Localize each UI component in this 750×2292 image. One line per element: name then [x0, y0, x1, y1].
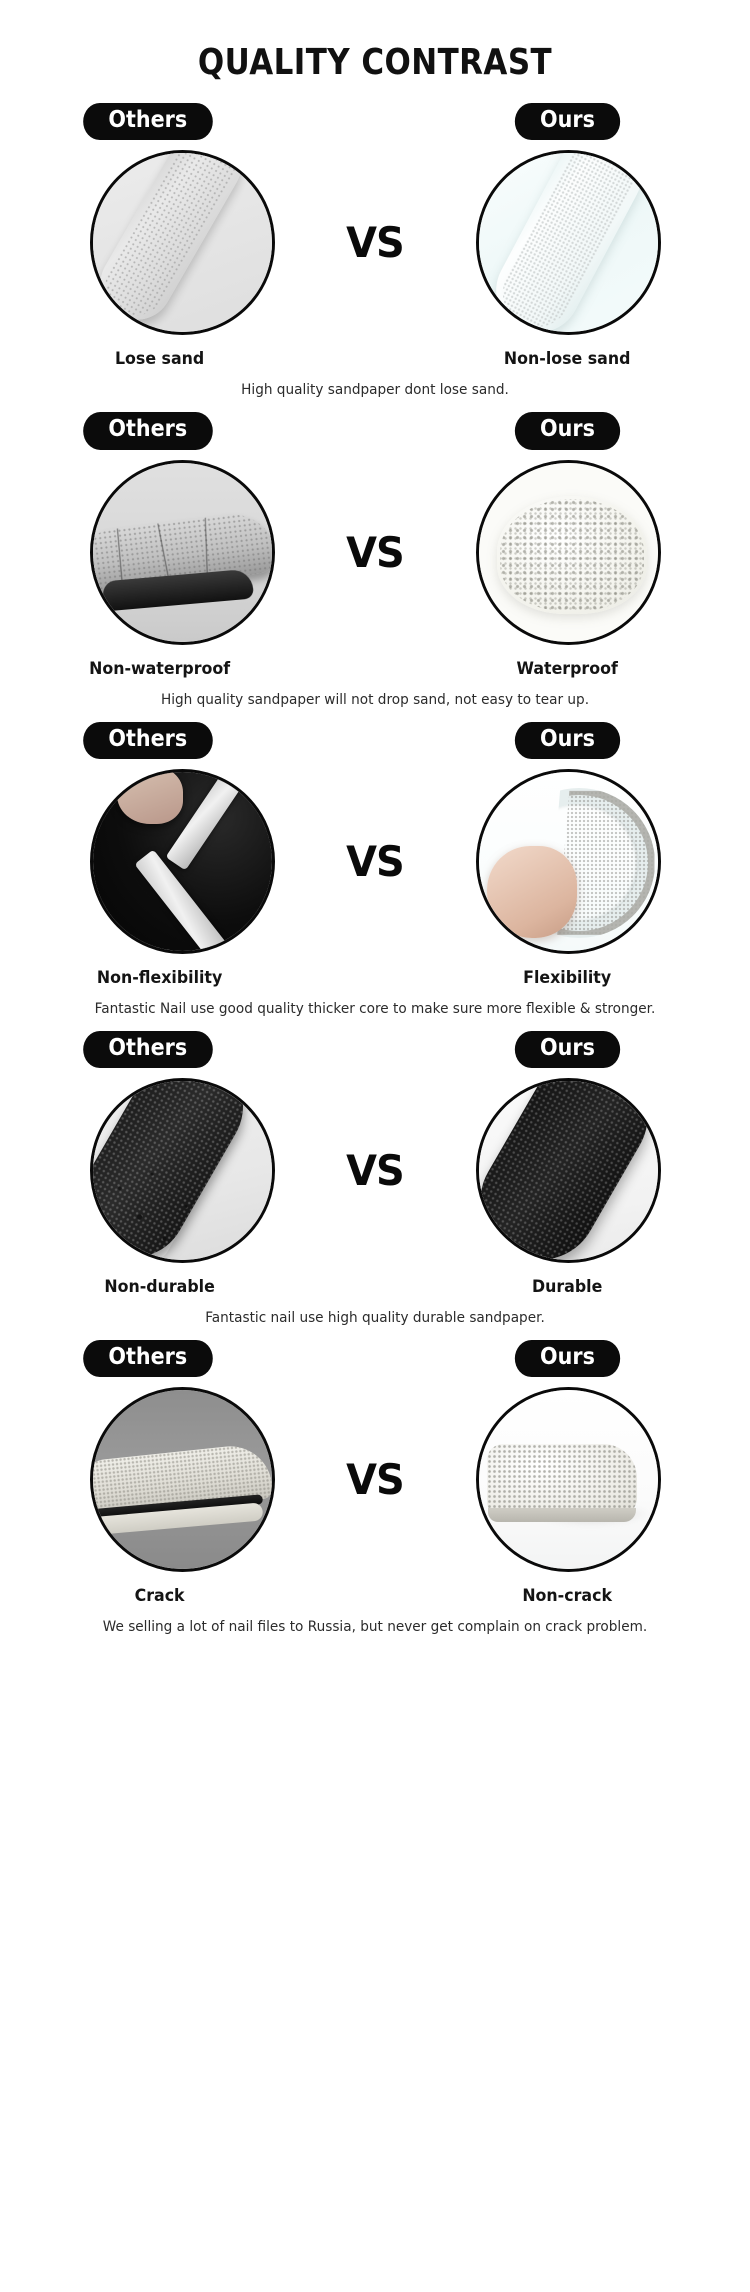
photo-row: VS	[0, 1387, 750, 1572]
ours-photo-nail-file-bent-flexible-in-hand	[476, 769, 661, 954]
quality-contrast-infographic: QUALITY CONTRAST Others Ours	[0, 0, 750, 1635]
others-badge-cell: Others	[0, 1340, 375, 1377]
photo-surface	[93, 1081, 272, 1260]
others-badge-cell: Others	[0, 722, 375, 759]
nail-file-core-layer	[488, 1508, 636, 1522]
hand-object	[117, 769, 183, 824]
ours-caption: Waterproof	[388, 659, 737, 679]
caption-row: Non-flexibility Flexibility	[0, 968, 750, 988]
vs-label: VS	[334, 218, 416, 267]
photo-surface	[479, 772, 658, 951]
others-caption: Lose sand	[13, 349, 362, 369]
photo-surface	[479, 1081, 658, 1260]
badge-row: Others Ours	[0, 722, 750, 759]
ours-badge-cell: Ours	[375, 1031, 750, 1068]
others-caption: Crack	[13, 1586, 362, 1606]
ours-photo-wrap	[418, 1078, 718, 1263]
ours-badge: Ours	[515, 722, 620, 759]
others-photo-nail-file-delaminated-crack-side-view	[90, 1387, 275, 1572]
nail-file-object	[481, 150, 656, 335]
others-photo-nail-file-shedding-loose-sand	[90, 150, 275, 335]
others-photo-wrap	[32, 769, 332, 954]
comparison-section-crack: Others Ours VS	[0, 1326, 750, 1635]
photo-surface	[479, 1390, 658, 1569]
comparison-section-waterproof: Others Ours VS	[0, 398, 750, 707]
section-description: We selling a lot of nail files to Russia…	[23, 1619, 728, 1635]
section-description: High quality sandpaper dont lose sand.	[23, 382, 728, 398]
others-badge: Others	[83, 1340, 212, 1377]
photo-surface	[479, 463, 658, 642]
photo-row: VS	[0, 769, 750, 954]
others-badge: Others	[83, 1031, 212, 1068]
comparison-section-durable: Others Ours VS	[0, 1017, 750, 1326]
others-badge: Others	[83, 103, 212, 140]
photo-row: VS	[0, 150, 750, 335]
caption-row: Non-durable Durable	[0, 1277, 750, 1297]
ours-caption: Durable	[388, 1277, 737, 1297]
ours-badge: Ours	[515, 412, 620, 449]
section-description: Fantastic nail use high quality durable …	[23, 1310, 728, 1326]
nail-file-object	[487, 1444, 637, 1516]
ours-badge: Ours	[515, 103, 620, 140]
photo-row: VS	[0, 1078, 750, 1263]
section-description: Fantastic Nail use good quality thicker …	[23, 1001, 728, 1017]
photo-surface	[93, 463, 272, 642]
others-photo-wrap	[32, 1078, 332, 1263]
ours-caption: Non-crack	[388, 1586, 737, 1606]
ours-photo-wrap	[418, 1387, 718, 1572]
comparison-section-flexibility: Others Ours VS	[0, 708, 750, 1017]
others-photo-wrap	[32, 460, 332, 645]
others-caption: Non-durable	[13, 1277, 362, 1297]
ours-photo-nail-file-intact-white-grit	[476, 150, 661, 335]
comparison-sections: Others Ours VS	[0, 89, 750, 1635]
ours-badge-cell: Ours	[375, 412, 750, 449]
comparison-section-lose-sand: Others Ours VS	[0, 89, 750, 398]
caption-row: Lose sand Non-lose sand	[0, 349, 750, 369]
others-caption: Non-flexibility	[13, 968, 362, 988]
others-photo-black-nail-file-grit-flaking-off	[90, 1078, 275, 1263]
others-badge-cell: Others	[0, 412, 375, 449]
photo-surface	[93, 772, 272, 951]
others-badge-cell: Others	[0, 103, 375, 140]
vs-label: VS	[334, 837, 416, 886]
badge-row: Others Ours	[0, 1031, 750, 1068]
section-description: High quality sandpaper will not drop san…	[23, 692, 728, 708]
ours-badge-cell: Ours	[375, 722, 750, 759]
ours-photo-wrap	[418, 150, 718, 335]
ours-photo-nail-file-solid-side-view	[476, 1387, 661, 1572]
nail-file-object	[90, 150, 255, 333]
nail-file-object	[476, 1078, 661, 1263]
vs-label: VS	[334, 1455, 416, 1504]
ours-photo-black-nail-file-grit-intact	[476, 1078, 661, 1263]
others-photo-wrap	[32, 150, 332, 335]
vs-label: VS	[334, 528, 416, 577]
caption-row: Crack Non-crack	[0, 1586, 750, 1606]
others-photo-wrap	[32, 1387, 332, 1572]
photo-surface	[479, 153, 658, 332]
page-title: QUALITY CONTRAST	[53, 0, 698, 89]
others-badge: Others	[83, 412, 212, 449]
badge-row: Others Ours	[0, 1340, 750, 1377]
loose-grit-particles	[93, 1081, 272, 1260]
others-caption: Non-waterproof	[13, 659, 362, 679]
ours-badge: Ours	[515, 1340, 620, 1377]
badge-row: Others Ours	[0, 103, 750, 140]
others-badge: Others	[83, 722, 212, 759]
caption-row: Non-waterproof Waterproof	[0, 659, 750, 679]
photo-surface	[93, 153, 272, 332]
badge-row: Others Ours	[0, 412, 750, 449]
ours-badge: Ours	[515, 1031, 620, 1068]
ours-photo-wrap	[418, 460, 718, 645]
photo-surface	[93, 1390, 272, 1569]
nail-file-object	[497, 496, 647, 614]
photo-row: VS	[0, 460, 750, 645]
others-photo-nail-file-snapped-in-hand-dark	[90, 769, 275, 954]
vs-label: VS	[334, 1146, 416, 1195]
ours-caption: Flexibility	[388, 968, 737, 988]
ours-photo-nail-file-waterproof-porous-pad	[476, 460, 661, 645]
ours-badge-cell: Ours	[375, 103, 750, 140]
ours-photo-wrap	[418, 769, 718, 954]
others-badge-cell: Others	[0, 1031, 375, 1068]
hand-object	[487, 846, 577, 938]
ours-badge-cell: Ours	[375, 1340, 750, 1377]
ours-caption: Non-lose sand	[388, 349, 737, 369]
others-photo-nail-file-wet-peeling-cracked	[90, 460, 275, 645]
